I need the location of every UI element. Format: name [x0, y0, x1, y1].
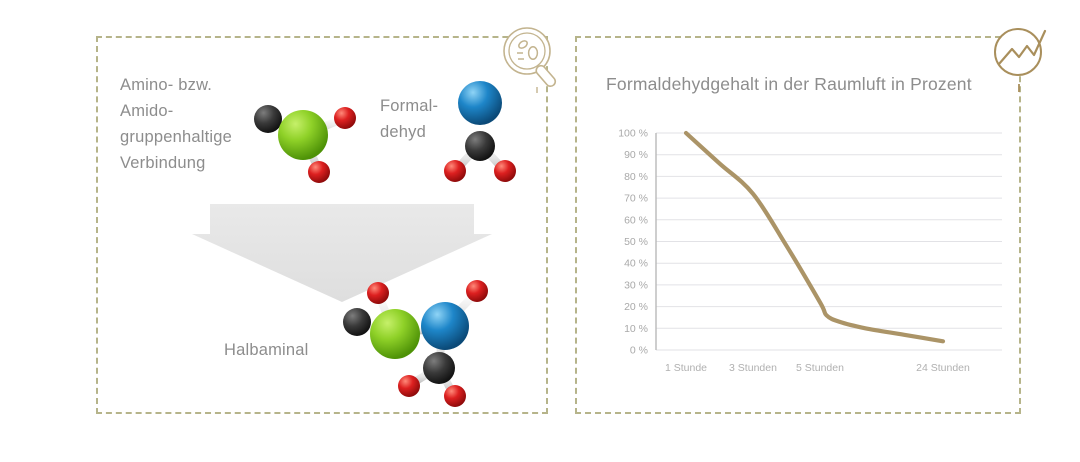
formaldehyde-molecule [436, 72, 524, 190]
chart-y-tick-label: 80 % [624, 171, 648, 183]
chart-y-tick-label: 40 % [624, 258, 648, 270]
chart-y-tick-label: 50 % [624, 236, 648, 248]
chart-y-tick-label: 100 % [618, 128, 648, 140]
line-chart: 100 %90 %80 %70 %60 %50 %40 %30 %20 %10 … [598, 118, 1010, 380]
chart-title: Formaldehydgehalt in der Raumluft in Pro… [606, 74, 972, 95]
amine-compound-molecule [235, 83, 375, 193]
chart-x-tick-label: 5 Stunden [796, 362, 844, 374]
chart-x-axis-labels: 1 Stunde3 Stunden5 Stunden24 Stunden [665, 362, 970, 374]
label-halbaminal: Halbaminal [224, 337, 309, 363]
halbaminal-molecule [327, 272, 507, 408]
infographic-stage: Amino- bzw. Amido- gruppenhaltige Verbin… [0, 0, 1080, 462]
chart-y-tick-label: 0 % [630, 345, 648, 357]
chart-x-tick-label: 24 Stunden [916, 362, 970, 374]
chart-data-curve [686, 133, 943, 341]
chart-y-tick-label: 60 % [624, 214, 648, 226]
chart-y-tick-label: 20 % [624, 301, 648, 313]
chart-svg: 100 %90 %80 %70 %60 %50 %40 %30 %20 %10 … [598, 118, 1010, 380]
trend-chart-circle-icon [988, 22, 1060, 94]
chart-y-tick-label: 90 % [624, 149, 648, 161]
chart-x-tick-label: 1 Stunde [665, 362, 707, 374]
chart-y-tick-label: 70 % [624, 193, 648, 205]
chart-y-tick-label: 30 % [624, 279, 648, 291]
chart-y-tick-label: 10 % [624, 323, 648, 335]
chart-y-axis-labels: 100 %90 %80 %70 %60 %50 %40 %30 %20 %10 … [618, 128, 648, 357]
chart-x-tick-label: 3 Stunden [729, 362, 777, 374]
